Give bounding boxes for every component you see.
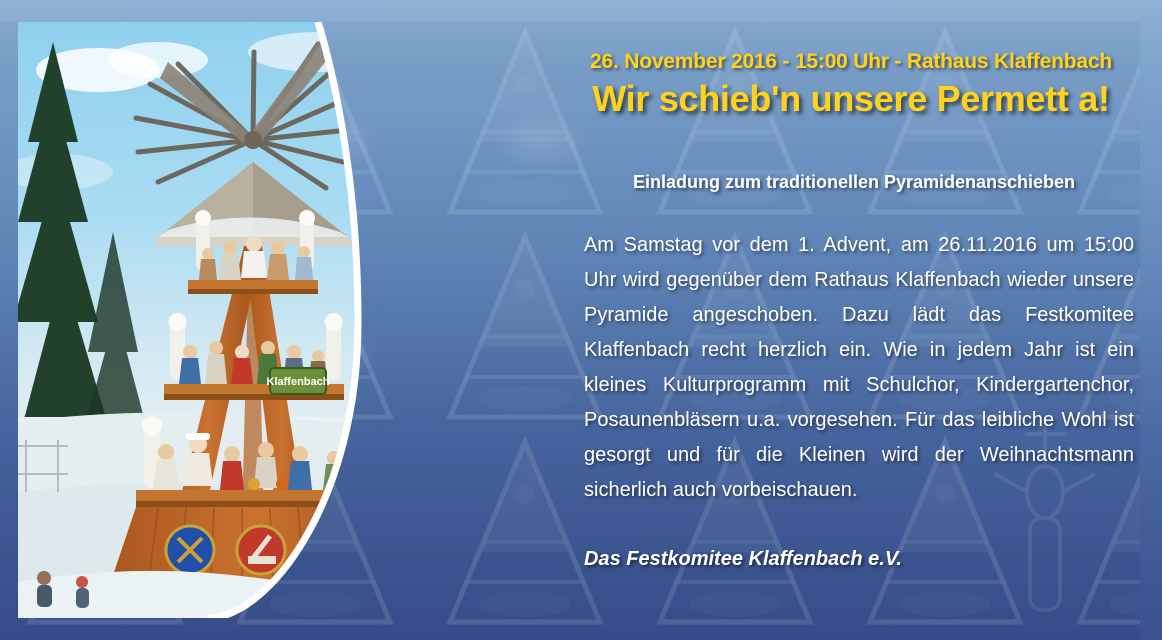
emblem-miners (166, 526, 214, 574)
poster-body-text: Am Samstag vor dem 1. Advent, am 26.11.2… (584, 228, 1134, 508)
event-date-line: 26. November 2016 - 15:00 Uhr - Rathaus … (560, 50, 1142, 74)
klaffenbach-sign: Klaffenbach (267, 368, 330, 394)
poster-subheadline: Einladung zum traditionellen Pyramidenan… (584, 172, 1124, 193)
svg-text:Klaffenbach: Klaffenbach (267, 376, 330, 388)
pyramid-photo-image: Klaffenbach (18, 22, 558, 618)
poster-headline: Wir schieb'n unsere Permett a! (560, 78, 1142, 120)
emblem-hammer (237, 526, 285, 574)
poster-root: Klaffenbach (0, 0, 1162, 640)
poster-signature: Das Festkomitee Klaffenbach e.V. (584, 548, 902, 571)
emblem-shield (310, 528, 358, 572)
text-column: 26. November 2016 - 15:00 Uhr - Rathaus … (560, 0, 1142, 640)
pyramid-photo: Klaffenbach (18, 22, 558, 618)
photo-clip: Klaffenbach (18, 22, 558, 618)
